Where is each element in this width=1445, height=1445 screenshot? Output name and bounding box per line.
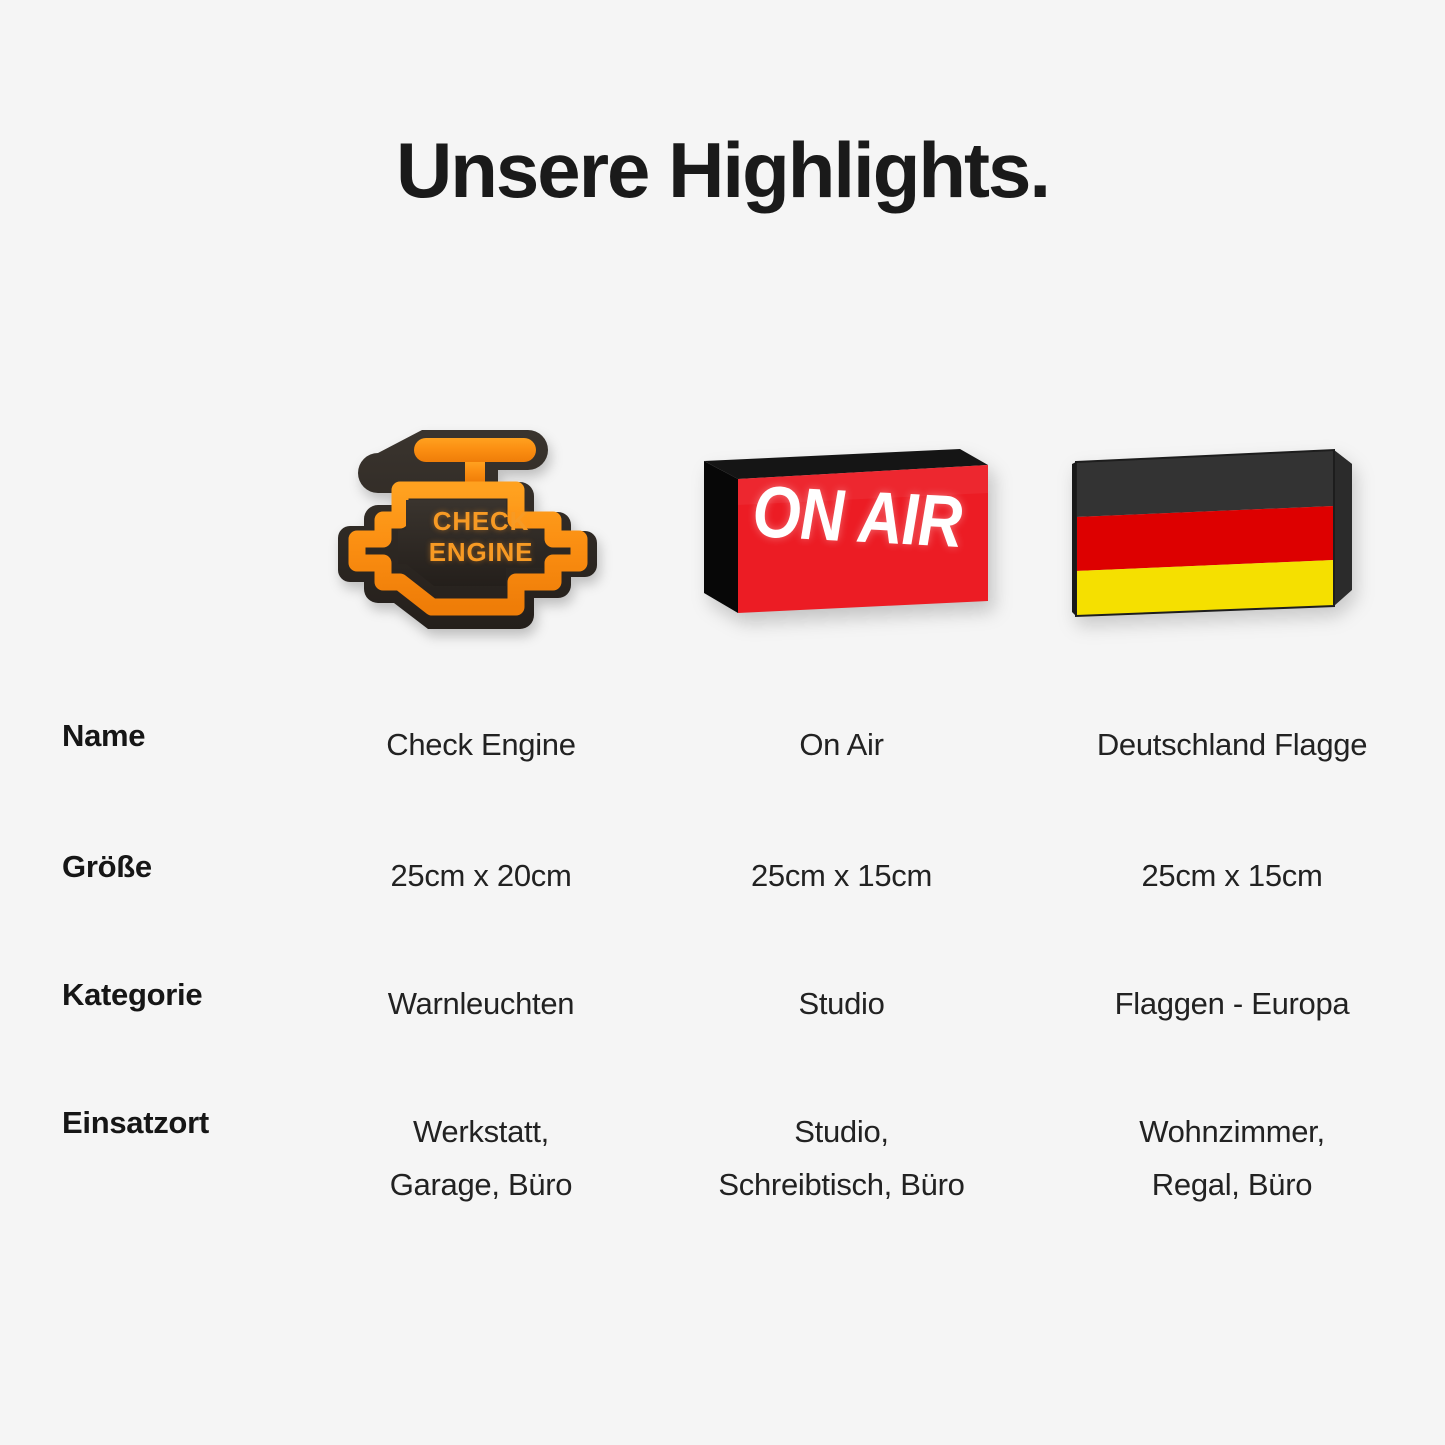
cell-kategorie-check-engine: Warnleuchten — [298, 949, 664, 1030]
product-image-row: CHECK ENGINE ON AIR — [0, 400, 1445, 665]
cell-kategorie-on-air: Studio — [664, 949, 1019, 1030]
table-row: Größe 25cm x 20cm 25cm x 15cm 25cm x 15c… — [0, 821, 1445, 949]
cell-name-check-engine: Check Engine — [298, 690, 664, 771]
einsatzort-line2: Garage, Büro — [390, 1167, 573, 1202]
einsatzort-line1: Wohnzimmer, — [1139, 1114, 1325, 1149]
cell-name-deutschland-flagge: Deutschland Flagge — [1019, 690, 1445, 771]
product-image-on-air[interactable]: ON AIR — [664, 400, 1019, 665]
on-air-lightbox: ON AIR — [692, 435, 992, 630]
row-label-kategorie: Kategorie — [0, 949, 298, 1013]
table-row: Kategorie Warnleuchten Studio Flaggen - … — [0, 949, 1445, 1077]
row-label-einsatzort: Einsatzort — [0, 1077, 298, 1141]
cell-einsatzort-check-engine: Werkstatt, Garage, Büro — [298, 1077, 664, 1212]
check-engine-lightbox: CHECK ENGINE — [326, 420, 636, 645]
cell-einsatzort-deutschland-flagge: Wohnzimmer, Regal, Büro — [1019, 1077, 1445, 1212]
cell-groesse-deutschland-flagge: 25cm x 15cm — [1019, 821, 1445, 902]
cell-groesse-on-air: 25cm x 15cm — [664, 821, 1019, 902]
page-title: Unsere Highlights. — [0, 130, 1445, 212]
highlights-page: Unsere Highlights. — [0, 0, 1445, 1445]
table-row: Name Check Engine On Air Deutschland Fla… — [0, 690, 1445, 821]
einsatzort-line1: Werkstatt, — [413, 1114, 549, 1149]
cell-einsatzort-on-air: Studio, Schreibtisch, Büro — [664, 1077, 1019, 1212]
product-image-deutschland-flagge[interactable] — [1019, 400, 1396, 665]
einsatzort-line2: Schreibtisch, Büro — [718, 1167, 964, 1202]
germany-flag-icon — [1058, 438, 1358, 628]
on-air-box-icon — [692, 435, 992, 630]
row-label-groesse: Größe — [0, 821, 298, 885]
einsatzort-line1: Studio, — [794, 1114, 888, 1149]
check-engine-icon — [326, 420, 636, 645]
einsatzort-line2: Regal, Büro — [1152, 1167, 1312, 1202]
product-image-check-engine[interactable]: CHECK ENGINE — [298, 400, 664, 665]
spec-table: Name Check Engine On Air Deutschland Fla… — [0, 690, 1445, 1247]
table-row: Einsatzort Werkstatt, Garage, Büro Studi… — [0, 1077, 1445, 1247]
flag-lightbox — [1058, 438, 1358, 628]
row-label-name: Name — [0, 690, 298, 754]
cell-groesse-check-engine: 25cm x 20cm — [298, 821, 664, 902]
cell-kategorie-deutschland-flagge: Flaggen - Europa — [1019, 949, 1445, 1030]
cell-name-on-air: On Air — [664, 690, 1019, 771]
